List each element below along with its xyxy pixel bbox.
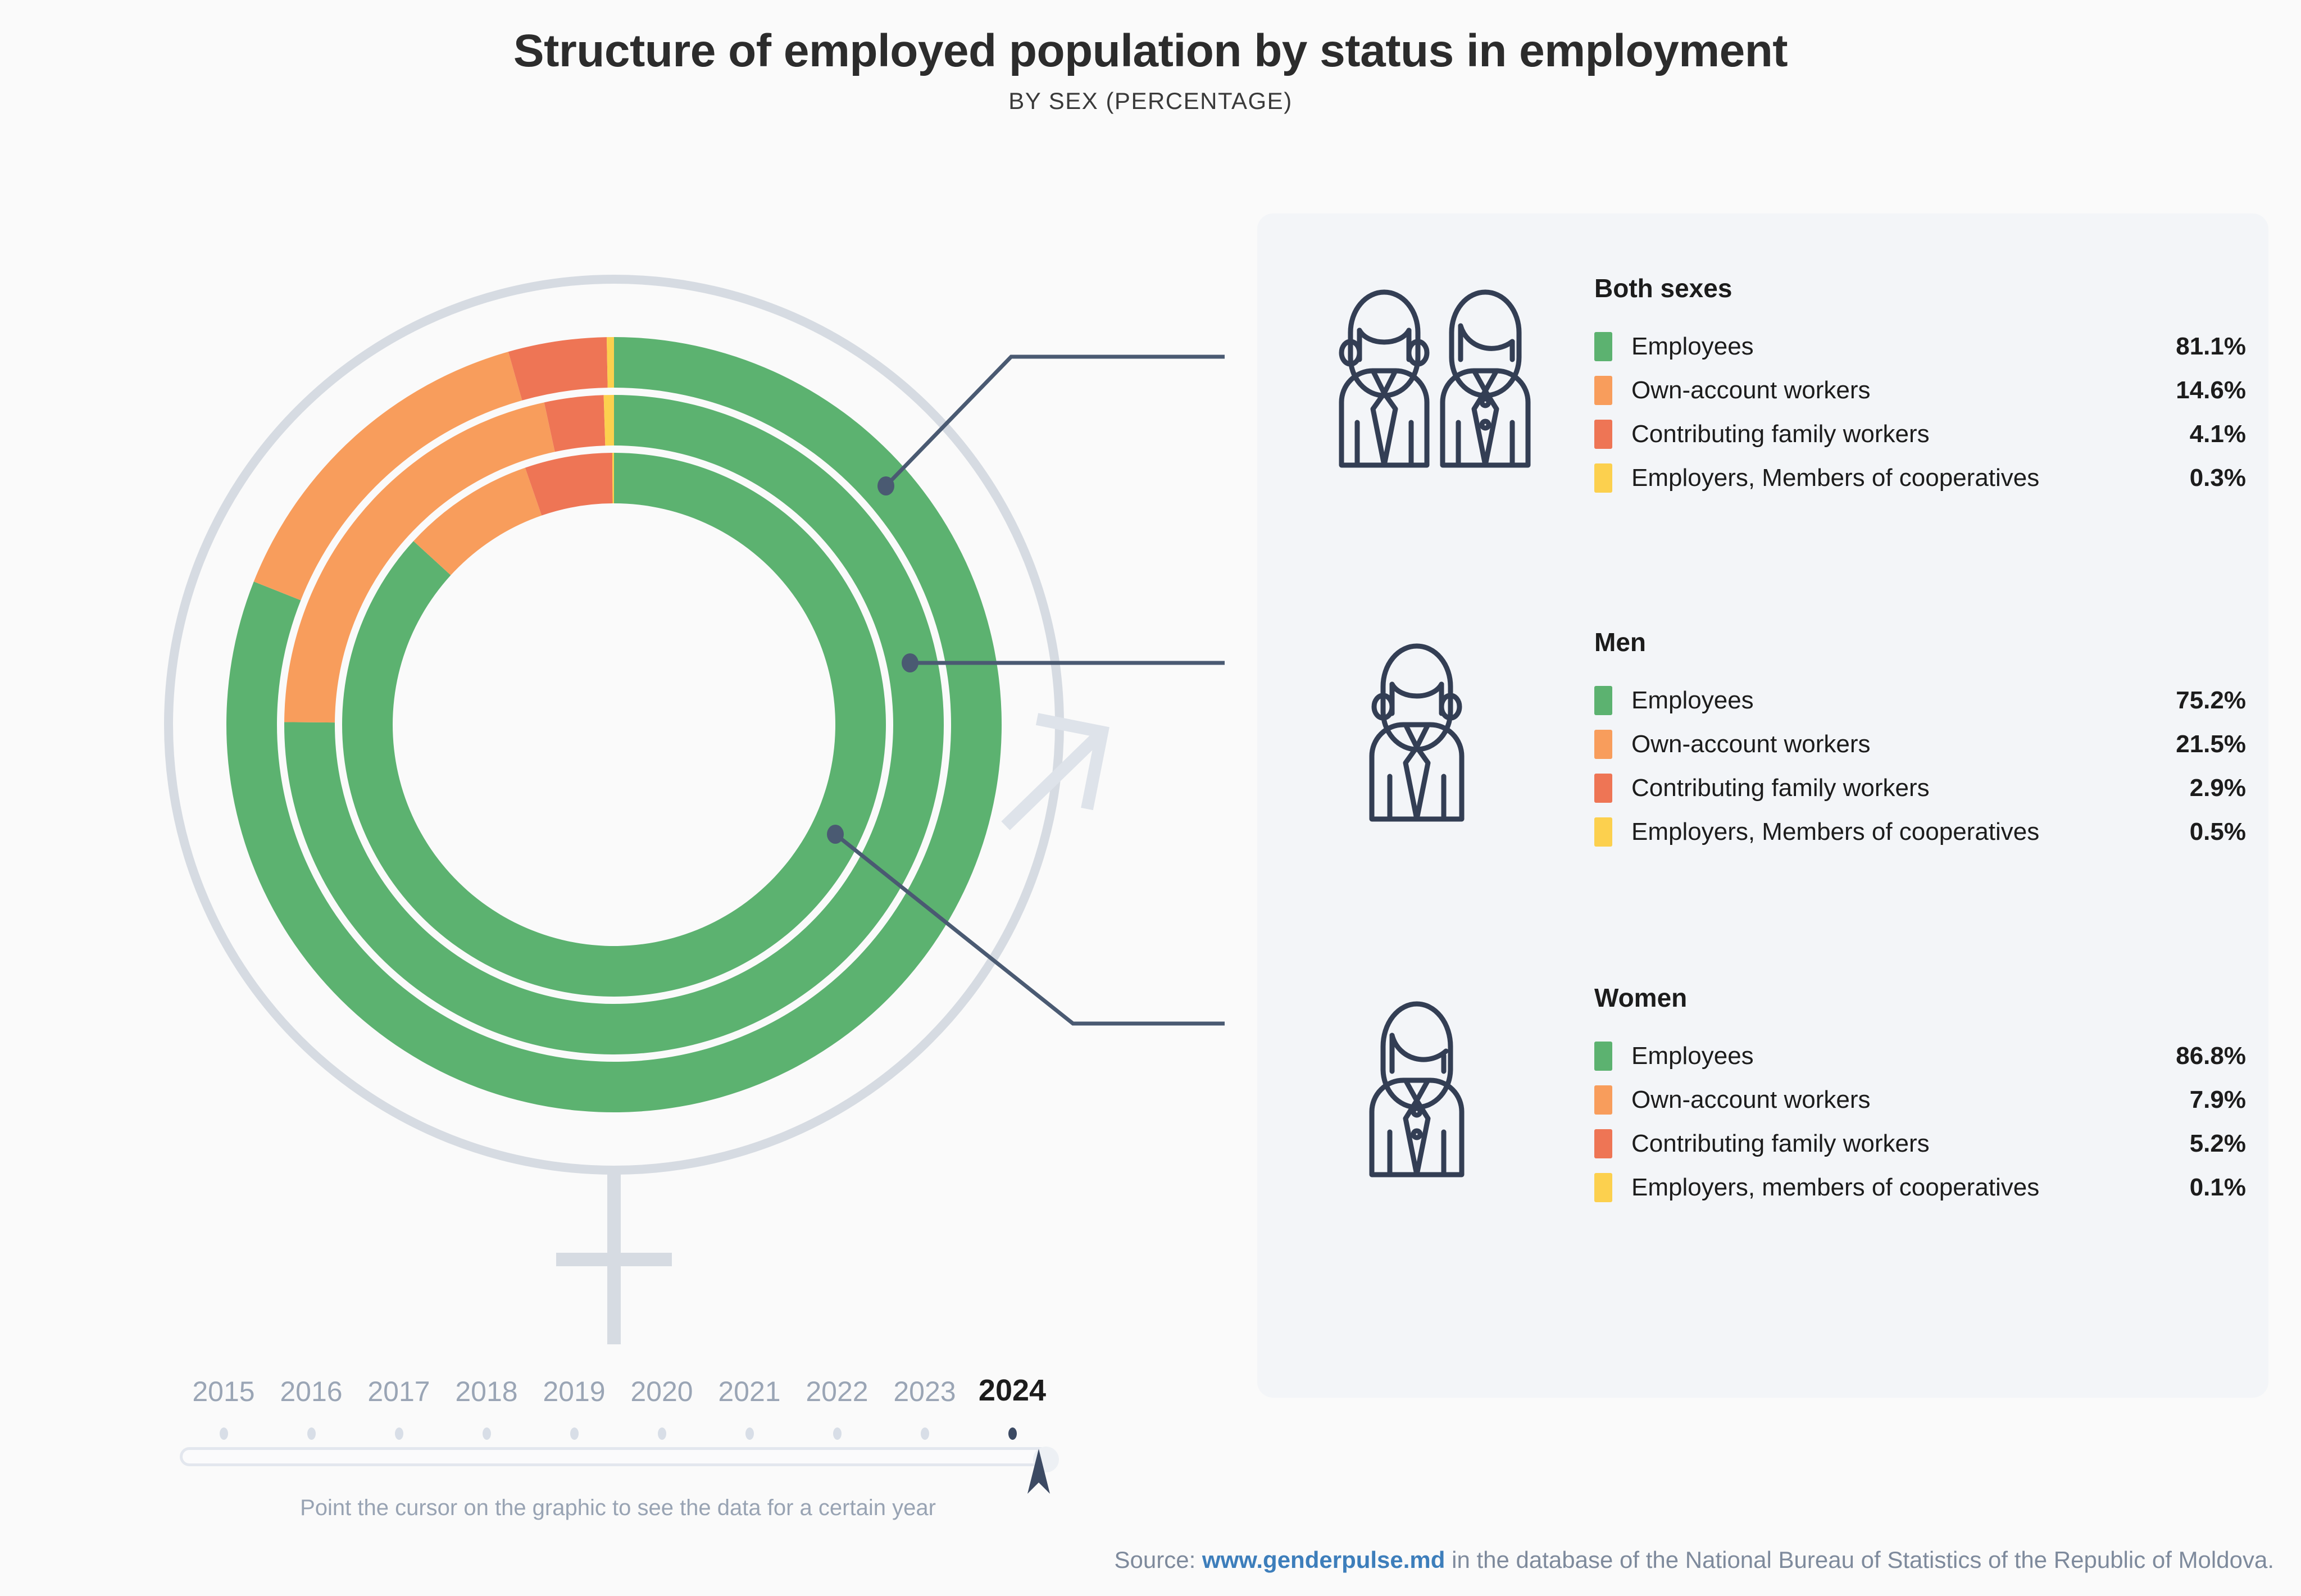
year-tick-dot [307, 1427, 316, 1440]
legend-item-label: Contributing family workers [1631, 422, 1930, 447]
legend-item-value: 86.8% [2176, 1044, 2246, 1068]
legend-swatch-contributing-family-workers [1594, 420, 1612, 449]
legend-row[interactable]: Own-account workers 7.9% [1594, 1078, 2246, 1122]
legend-body-men: Men Employees 75.2% Own-account workers … [1594, 629, 2246, 854]
legend-row[interactable]: Contributing family workers 4.1% [1594, 412, 2246, 456]
legend-item-value: 4.1% [2190, 422, 2246, 447]
year-tick-2018[interactable] [443, 1427, 530, 1440]
anchor-dot-both-sexes [877, 476, 894, 495]
year-slider-fill [183, 1450, 1053, 1463]
year-tick-2023[interactable] [881, 1427, 968, 1440]
year-tick-dot [220, 1427, 228, 1440]
year-timeline[interactable]: 2015201620172018201920202021202220232024… [180, 1365, 1056, 1521]
timeline-hint: Point the cursor on the graphic to see t… [180, 1495, 1056, 1521]
donut-ring-women[interactable] [342, 453, 886, 997]
legend-item-label: Contributing family workers [1631, 776, 1930, 801]
legend-item-value: 0.3% [2190, 466, 2246, 490]
legend-item-label: Own-account workers [1631, 1088, 1870, 1112]
year-tick-dot [483, 1427, 491, 1440]
concentric-donut-chart[interactable] [0, 169, 1225, 1348]
legend-item-value: 81.1% [2176, 334, 2246, 359]
year-tick-2022[interactable] [793, 1427, 881, 1440]
legend-swatch-contributing-family-workers [1594, 1129, 1612, 1158]
legend-swatch-employees [1594, 332, 1612, 361]
year-label-2020[interactable]: 2020 [618, 1377, 706, 1406]
legend-swatch-employees [1594, 686, 1612, 715]
anchor-dot-women [827, 825, 844, 844]
legend-row[interactable]: Employees 86.8% [1594, 1034, 2246, 1078]
legend-row[interactable]: Own-account workers 21.5% [1594, 722, 2246, 766]
legend-row[interactable]: Employees 75.2% [1594, 679, 2246, 722]
woman-icon [1347, 995, 1488, 1180]
year-tick-2017[interactable] [355, 1427, 443, 1440]
legend-group-title: Both sexes [1594, 275, 2246, 301]
legend-row[interactable]: Contributing family workers 5.2% [1594, 1122, 2246, 1166]
man-icon [1347, 639, 1488, 825]
year-slider-track[interactable] [180, 1447, 1056, 1466]
legend-swatch-own-account-workers [1594, 1085, 1612, 1115]
year-label-2018[interactable]: 2018 [443, 1377, 530, 1406]
year-label-2016[interactable]: 2016 [267, 1377, 355, 1406]
legend-item-value: 2.9% [2190, 776, 2246, 801]
legend-item-value: 7.9% [2190, 1088, 2246, 1112]
year-tick-2024[interactable] [968, 1427, 1056, 1440]
year-tick-2015[interactable] [180, 1427, 267, 1440]
source-footer: Source: www.genderpulse.md in the databa… [0, 1547, 2301, 1574]
year-label-2019[interactable]: 2019 [530, 1377, 618, 1406]
legend-item-label: Employees [1631, 1044, 1754, 1068]
page-title: Structure of employed population by stat… [0, 27, 2301, 75]
legend-group-title: Men [1594, 629, 2246, 655]
year-tick-2021[interactable] [706, 1427, 793, 1440]
legend-item-value: 21.5% [2176, 732, 2246, 757]
year-labels[interactable]: 2015201620172018201920202021202220232024 [180, 1365, 1056, 1406]
legend-item-label: Employers, Members of cooperatives [1631, 466, 2039, 490]
legend-item-value: 75.2% [2176, 688, 2246, 713]
year-slider-cursor-icon[interactable] [1022, 1445, 1056, 1497]
year-tick-dot [833, 1427, 842, 1440]
donut-rings[interactable] [226, 337, 1002, 1112]
legend-item-label: Contributing family workers [1631, 1131, 1930, 1156]
year-label-2015[interactable]: 2015 [180, 1377, 267, 1406]
legend-item-value: 0.5% [2190, 820, 2246, 844]
legend-row[interactable]: Own-account workers 14.6% [1594, 369, 2246, 412]
legend-swatch-employees [1594, 1042, 1612, 1071]
year-label-2021[interactable]: 2021 [706, 1377, 793, 1406]
legend-row[interactable]: Employers, Members of cooperatives 0.3% [1594, 456, 2246, 500]
year-tick-dot [658, 1427, 666, 1440]
year-tick-dot [921, 1427, 929, 1440]
legend-panel: Both sexes Employees 81.1% Own-account w… [1257, 213, 2268, 1398]
year-tick-dot [570, 1427, 579, 1440]
legend-item-value: 14.6% [2176, 378, 2246, 403]
legend-item-label: Employees [1631, 688, 1754, 713]
venus-symbol-crossbar [556, 1253, 672, 1266]
year-label-2017[interactable]: 2017 [355, 1377, 443, 1406]
legend-item-label: Employers, Members of cooperatives [1631, 820, 2039, 844]
legend-item-label: Employers, members of cooperatives [1631, 1175, 2039, 1200]
donut-segment-employers[interactable] [604, 395, 614, 445]
source-link[interactable]: www.genderpulse.md [1202, 1547, 1445, 1573]
anchor-dot-men [902, 653, 918, 672]
legend-group-title: Women [1594, 985, 2246, 1011]
legend-row[interactable]: Employees 81.1% [1594, 325, 2246, 369]
year-tick-2016[interactable] [267, 1427, 355, 1440]
year-label-2023[interactable]: 2023 [881, 1377, 968, 1406]
year-tick-dots[interactable] [180, 1422, 1056, 1445]
legend-body-both-sexes: Both sexes Employees 81.1% Own-account w… [1594, 275, 2246, 500]
legend-item-label: Employees [1631, 334, 1754, 359]
legend-row[interactable]: Employers, Members of cooperatives 0.5% [1594, 810, 2246, 854]
legend-item-value: 0.1% [2190, 1175, 2246, 1200]
source-suffix: in the database of the National Bureau o… [1445, 1547, 2274, 1573]
legend-swatch-contributing-family-workers [1594, 774, 1612, 803]
legend-swatch-employers [1594, 817, 1612, 847]
year-tick-dot [395, 1427, 403, 1440]
year-label-2024[interactable]: 2024 [968, 1375, 1056, 1406]
legend-row[interactable]: Employers, members of cooperatives 0.1% [1594, 1166, 2246, 1209]
year-tick-2020[interactable] [618, 1427, 706, 1440]
year-label-2022[interactable]: 2022 [793, 1377, 881, 1406]
legend-row[interactable]: Contributing family workers 2.9% [1594, 766, 2246, 810]
year-tick-dot [1008, 1427, 1017, 1440]
legend-item-label: Own-account workers [1631, 378, 1870, 403]
legend-swatch-employers [1594, 1173, 1612, 1202]
page-subtitle: BY SEX (PERCENTAGE) [0, 88, 2301, 115]
two-persons-icon [1308, 285, 1566, 471]
legend-item-label: Own-account workers [1631, 732, 1870, 757]
donut-chart-area[interactable] [0, 169, 1225, 1348]
year-tick-dot [745, 1427, 754, 1440]
legend-item-value: 5.2% [2190, 1131, 2246, 1156]
source-prefix: Source: [1115, 1547, 1202, 1573]
year-tick-2019[interactable] [530, 1427, 618, 1440]
legend-swatch-employers [1594, 463, 1612, 493]
legend-swatch-own-account-workers [1594, 730, 1612, 759]
legend-body-women: Women Employees 86.8% Own-account worker… [1594, 985, 2246, 1209]
chart-header: Structure of employed population by stat… [0, 0, 2301, 115]
donut-segment-employers[interactable] [607, 337, 614, 388]
donut-segment-contributing-family[interactable] [544, 395, 606, 452]
legend-swatch-own-account-workers [1594, 376, 1612, 405]
donut-segment-contributing-family[interactable] [508, 337, 608, 401]
